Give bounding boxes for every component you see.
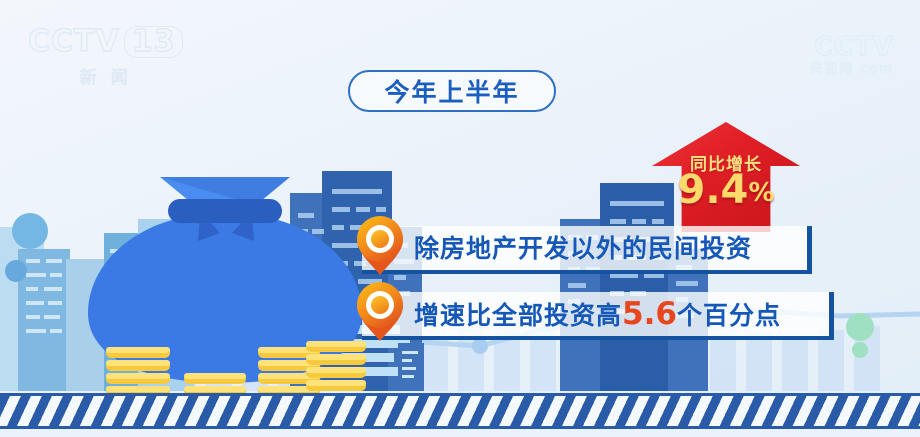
- headline-title-pill: 今年上半年: [348, 70, 556, 112]
- cctv-com-watermark: CCTV 央视网 com: [809, 34, 894, 76]
- skyline-far-right-block: [398, 343, 424, 391]
- watermark-brand-text: CCTV: [814, 32, 894, 62]
- watermark-cn-text: 央视网: [809, 62, 854, 77]
- watermark-cctv-text: CCTV: [28, 24, 120, 59]
- info-bar-2-text: 增速比全部投资高: [414, 301, 622, 330]
- info-bar-2-text-after: 个百分点: [677, 301, 781, 330]
- money-bag-icon: [80, 171, 370, 401]
- tree-icon: [845, 312, 875, 358]
- page-title: 今年上半年: [384, 73, 519, 109]
- cctv13-watermark: CCTV13 新闻: [28, 26, 183, 88]
- watermark-news-text: 新闻: [28, 63, 183, 88]
- growth-unit: %: [748, 178, 774, 208]
- info-bar-private-investment: 除房地产开发以外的民间投资: [362, 226, 812, 274]
- location-pin-icon: [356, 281, 404, 343]
- bottom-footer-strip: [0, 429, 920, 437]
- info-bar-growth-gap: 增速比全部投资高5.6个百分点: [362, 292, 834, 340]
- growth-arrow-badge: 同比增长 9.4%: [652, 122, 800, 232]
- growth-value: 9.4: [678, 167, 749, 213]
- location-pin-icon: [356, 215, 404, 277]
- info-bar-1-text: 除房地产开发以外的民间投资: [414, 236, 752, 261]
- bottom-stripe-band: [0, 393, 920, 429]
- info-bar-2-highlight: 5.6: [622, 296, 677, 332]
- watermark-channel-number: 13: [124, 26, 184, 58]
- money-bag-tie: [168, 199, 282, 223]
- watermark-domain-text: com: [860, 62, 894, 77]
- infographic-canvas: CCTV13 新闻 CCTV 央视网 com 今年上半年 同比增长 9.4% 除…: [0, 0, 920, 437]
